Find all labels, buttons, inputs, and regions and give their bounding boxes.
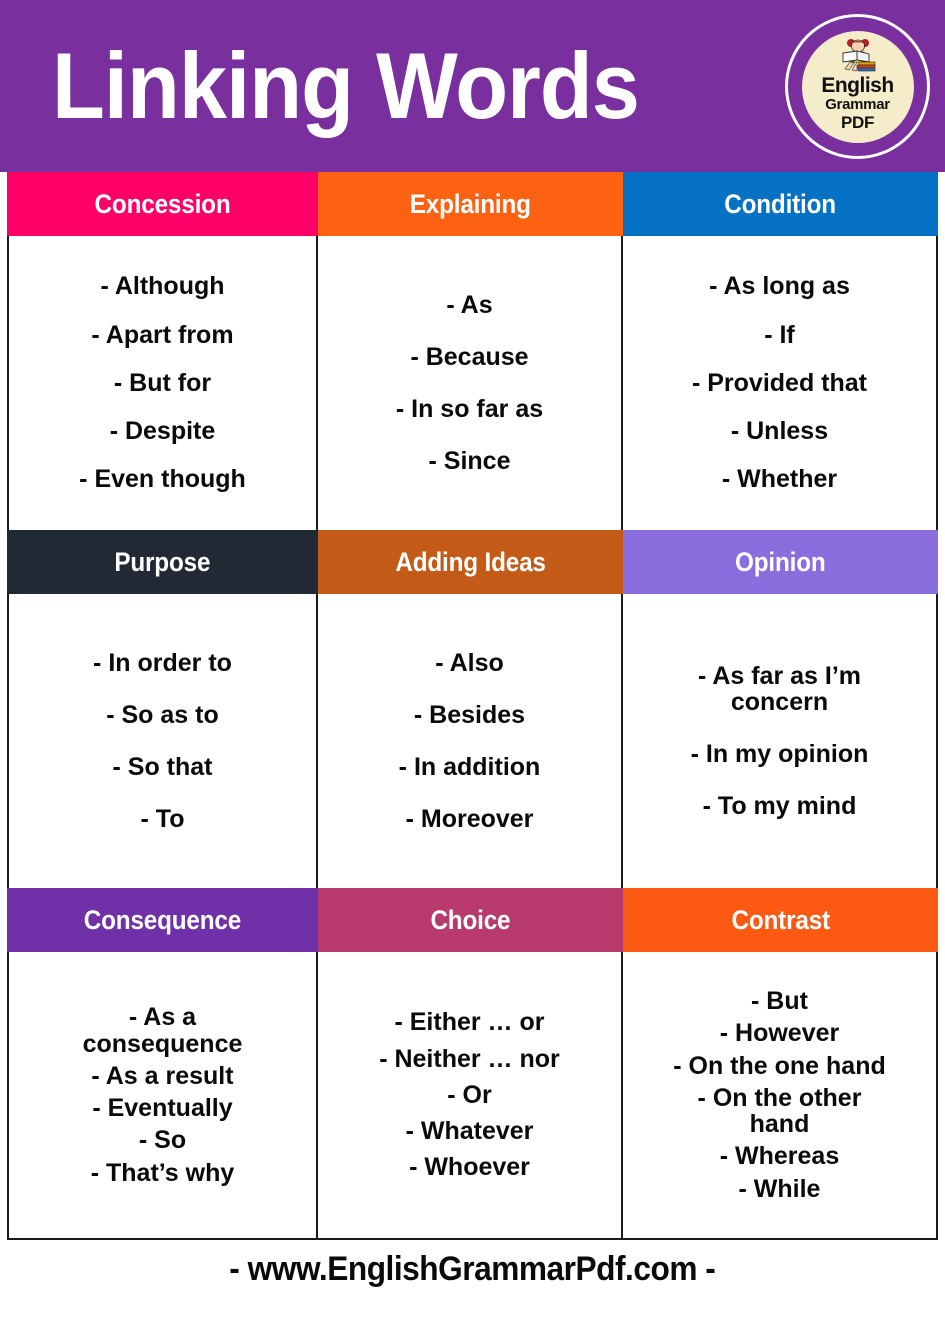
list-item: - Eventually bbox=[92, 1095, 232, 1121]
word-list-purpose: - In order to - So as to - So that - To bbox=[7, 594, 318, 888]
list-item: - Apart from bbox=[91, 322, 233, 348]
list-item: - So that bbox=[113, 754, 213, 780]
category-header-purpose: Purpose bbox=[7, 530, 318, 594]
list-item: - Neither … nor bbox=[379, 1046, 560, 1072]
list-item: - While bbox=[739, 1176, 821, 1202]
logo-line-english: English bbox=[821, 75, 893, 96]
brand-logo-inner: English Grammar PDF bbox=[798, 27, 918, 147]
category-header-condition: Condition bbox=[623, 172, 938, 236]
girl-reading-book-icon bbox=[835, 38, 881, 74]
list-item: - Unless bbox=[731, 418, 828, 444]
list-item: - Moreover bbox=[406, 806, 534, 832]
list-item: - In so far as bbox=[396, 396, 543, 422]
list-item: - To my mind bbox=[703, 793, 857, 819]
word-list-adding-ideas: - Also - Besides - In addition - Moreove… bbox=[318, 594, 623, 888]
word-list-explaining: - As - Because - In so far as - Since bbox=[318, 236, 623, 530]
list-item: - In addition bbox=[399, 754, 541, 780]
list-item: - Even though bbox=[79, 466, 246, 492]
word-list-concession: - Although - Apart from - But for - Desp… bbox=[7, 236, 318, 530]
word-list-consequence: - As a consequence - As a result - Event… bbox=[7, 952, 318, 1240]
list-item: - In my opinion bbox=[691, 741, 869, 767]
category-label: Choice bbox=[431, 905, 511, 936]
linking-words-grid: Concession Explaining Condition - Althou… bbox=[7, 172, 938, 1240]
list-item: - In order to bbox=[93, 650, 232, 676]
list-item: - Either … or bbox=[394, 1009, 544, 1035]
list-item: - That’s why bbox=[91, 1160, 235, 1186]
list-item: - But bbox=[751, 988, 808, 1014]
category-header-concession: Concession bbox=[7, 172, 318, 236]
list-item: - Whereas bbox=[720, 1143, 839, 1169]
word-list-contrast: - But - However - On the one hand - On t… bbox=[623, 952, 938, 1240]
list-item: - Besides bbox=[414, 702, 525, 728]
list-item: - Provided that bbox=[692, 370, 867, 396]
category-header-consequence: Consequence bbox=[7, 888, 318, 952]
category-header-opinion: Opinion bbox=[623, 530, 938, 594]
website-url: - www.EnglishGrammarPdf.com - bbox=[229, 1250, 715, 1289]
list-item: - Also bbox=[435, 650, 504, 676]
category-header-choice: Choice bbox=[318, 888, 623, 952]
list-item: - If bbox=[764, 322, 795, 348]
category-label: Consequence bbox=[84, 905, 241, 936]
category-content-row-1: - Although - Apart from - But for - Desp… bbox=[7, 236, 938, 530]
category-label: Purpose bbox=[115, 547, 211, 578]
category-label: Concession bbox=[95, 189, 231, 220]
list-item: - Despite bbox=[110, 418, 216, 444]
list-item: - Whoever bbox=[409, 1154, 530, 1180]
footer: - www.EnglishGrammarPdf.com - bbox=[0, 1240, 945, 1298]
brand-logo-badge: English Grammar PDF bbox=[785, 14, 930, 159]
list-item: - Because bbox=[410, 344, 528, 370]
list-item: - As long as bbox=[709, 273, 850, 299]
page-title: Linking Words bbox=[52, 39, 639, 133]
list-item: - Whether bbox=[722, 466, 837, 492]
list-item: - As a result bbox=[91, 1063, 233, 1089]
category-label: Explaining bbox=[410, 189, 531, 220]
category-content-row-2: - In order to - So as to - So that - To … bbox=[7, 594, 938, 888]
list-item: - To bbox=[141, 806, 185, 832]
list-item: - Although bbox=[100, 273, 224, 299]
category-header-explaining: Explaining bbox=[318, 172, 623, 236]
word-list-condition: - As long as - If - Provided that - Unle… bbox=[623, 236, 938, 530]
list-item: - So bbox=[139, 1127, 186, 1153]
category-label: Opinion bbox=[735, 547, 826, 578]
category-header-row-2: Purpose Adding Ideas Opinion bbox=[7, 530, 938, 594]
list-item: - As a consequence bbox=[83, 1004, 243, 1057]
header-banner: Linking Words bbox=[0, 0, 945, 172]
list-item: - However bbox=[720, 1020, 839, 1046]
logo-line-pdf: PDF bbox=[841, 113, 874, 133]
list-item: - On the one hand bbox=[673, 1053, 886, 1079]
list-item: - On the other hand bbox=[698, 1085, 862, 1138]
category-label: Condition bbox=[725, 189, 837, 220]
category-label: Adding Ideas bbox=[395, 547, 545, 578]
category-header-row-1: Concession Explaining Condition bbox=[7, 172, 938, 236]
list-item: - Whatever bbox=[406, 1118, 534, 1144]
list-item: - As bbox=[446, 292, 492, 318]
list-item: - Since bbox=[429, 448, 511, 474]
category-header-contrast: Contrast bbox=[623, 888, 938, 952]
category-label: Contrast bbox=[731, 905, 829, 936]
word-list-choice: - Either … or - Neither … nor - Or - Wha… bbox=[318, 952, 623, 1240]
list-item: - As far as I’m concern bbox=[698, 663, 861, 716]
list-item: - But for bbox=[114, 370, 211, 396]
infographic-page: Linking Words bbox=[0, 0, 945, 1323]
list-item: - Or bbox=[447, 1082, 491, 1108]
category-header-adding-ideas: Adding Ideas bbox=[318, 530, 623, 594]
list-item: - So as to bbox=[106, 702, 219, 728]
category-header-row-3: Consequence Choice Contrast bbox=[7, 888, 938, 952]
word-list-opinion: - As far as I’m concern - In my opinion … bbox=[623, 594, 938, 888]
category-content-row-3: - As a consequence - As a result - Event… bbox=[7, 952, 938, 1240]
logo-line-grammar: Grammar bbox=[825, 96, 890, 113]
